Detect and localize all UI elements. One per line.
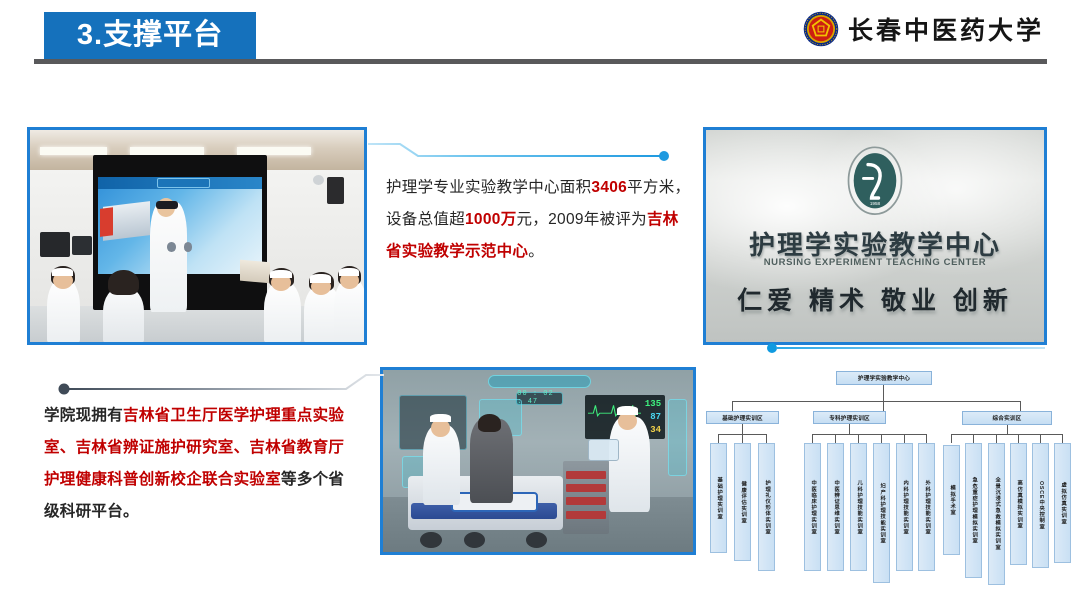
org-leaf-2-3: 高仿真模拟实训室 xyxy=(1010,443,1027,565)
p2-seg-0: 学院现拥有 xyxy=(44,407,123,424)
org-leaf-0-2: 护理礼仪形体实训室 xyxy=(758,443,775,571)
org-leaf-1-4: 内科护理技能实训室 xyxy=(896,443,913,571)
org-branch-node-2: 综合实训区 xyxy=(962,411,1052,425)
wall-center-name-en: NURSING EXPERIMENT TEACHING CENTER xyxy=(764,257,987,268)
connector-mid-dot xyxy=(767,343,777,353)
org-leaf-1-2: 儿科护理技能实训室 xyxy=(850,443,867,571)
p1-seg-1: 3406 xyxy=(591,179,627,196)
paragraph-center-overview: 护理学专业实验教学中心面积3406平方米，设备总值超1000万元，2009年被评… xyxy=(386,172,691,268)
org-leaf-1-0: 中医临床护理实训室 xyxy=(804,443,821,571)
header-divider xyxy=(34,59,1047,64)
section-title-box: 3.支撑平台 xyxy=(44,12,256,59)
org-branch-node-1: 专科护理实训区 xyxy=(813,411,886,424)
p1-seg-6: 。 xyxy=(528,243,544,260)
photo-simulation-training: 00 : 02 : 47 135 87 34 xyxy=(380,367,696,555)
org-leaf-2-2: 全景沉浸式急救模拟实训室 xyxy=(988,443,1005,585)
org-leaf-1-1: 中医辨证思维实训室 xyxy=(827,443,844,571)
photo-vr-classroom xyxy=(27,127,367,345)
org-leaf-1-5: 外科护理技能实训室 xyxy=(918,443,935,571)
org-leaf-2-1: 急危重症护理模拟实训室 xyxy=(965,443,982,578)
p1-seg-4: 元，2009年被评为 xyxy=(517,211,647,228)
org-leaf-2-0: 模拟手术室 xyxy=(943,445,960,555)
photo-center-wall-sign: 1958 护理学实验教学中心 NURSING EXPERIMENT TEACHI… xyxy=(703,127,1047,345)
connector-bottom-left xyxy=(56,370,386,396)
org-branch-node-0: 基础护理实训区 xyxy=(706,411,779,424)
sim-hud-title xyxy=(488,375,590,388)
org-leaf-0-0: 基础护理实训室 xyxy=(710,443,727,553)
brand: 长春中医药大学 xyxy=(803,11,1044,47)
university-emblem-icon xyxy=(803,11,839,47)
brand-name: 长春中医药大学 xyxy=(848,11,1044,47)
org-chart: 护理学实验教学中心 基础护理实训区 基础护理实训室 健康评估实训室 护理礼仪形体… xyxy=(700,366,1074,592)
paragraph-research-platforms: 学院现拥有吉林省卫生厅医学护理重点实验室、吉林省辨证施护研究室、吉林省教育厅护理… xyxy=(44,400,349,528)
connector-top xyxy=(366,140,676,170)
connector-mid-line xyxy=(777,347,1045,349)
org-leaf-0-1: 健康评估实训室 xyxy=(734,443,751,561)
org-leaf-2-5: 虚拟仿真实训室 xyxy=(1054,443,1071,563)
p1-seg-3: 1000万 xyxy=(465,211,516,228)
wall-motto: 仁爱 精术 敬业 创新 xyxy=(737,281,1013,317)
slide-root: 3.支撑平台 长春中医药大学 xyxy=(0,0,1080,608)
org-root-node: 护理学实验教学中心 xyxy=(836,371,932,385)
center-emblem-icon: 1958 xyxy=(846,145,904,217)
p1-seg-0: 护理学专业实验教学中心面积 xyxy=(386,179,591,196)
org-leaf-1-3: 妇产科护理技能实训室 xyxy=(873,443,890,583)
sim-timer: 00 : 02 : 47 xyxy=(516,392,563,405)
svg-text:1958: 1958 xyxy=(870,201,881,206)
vr-screen-title xyxy=(157,178,210,188)
org-leaf-2-4: OSCE中央控制室 xyxy=(1032,443,1049,568)
page-title: 3.支撑平台 xyxy=(77,21,223,50)
